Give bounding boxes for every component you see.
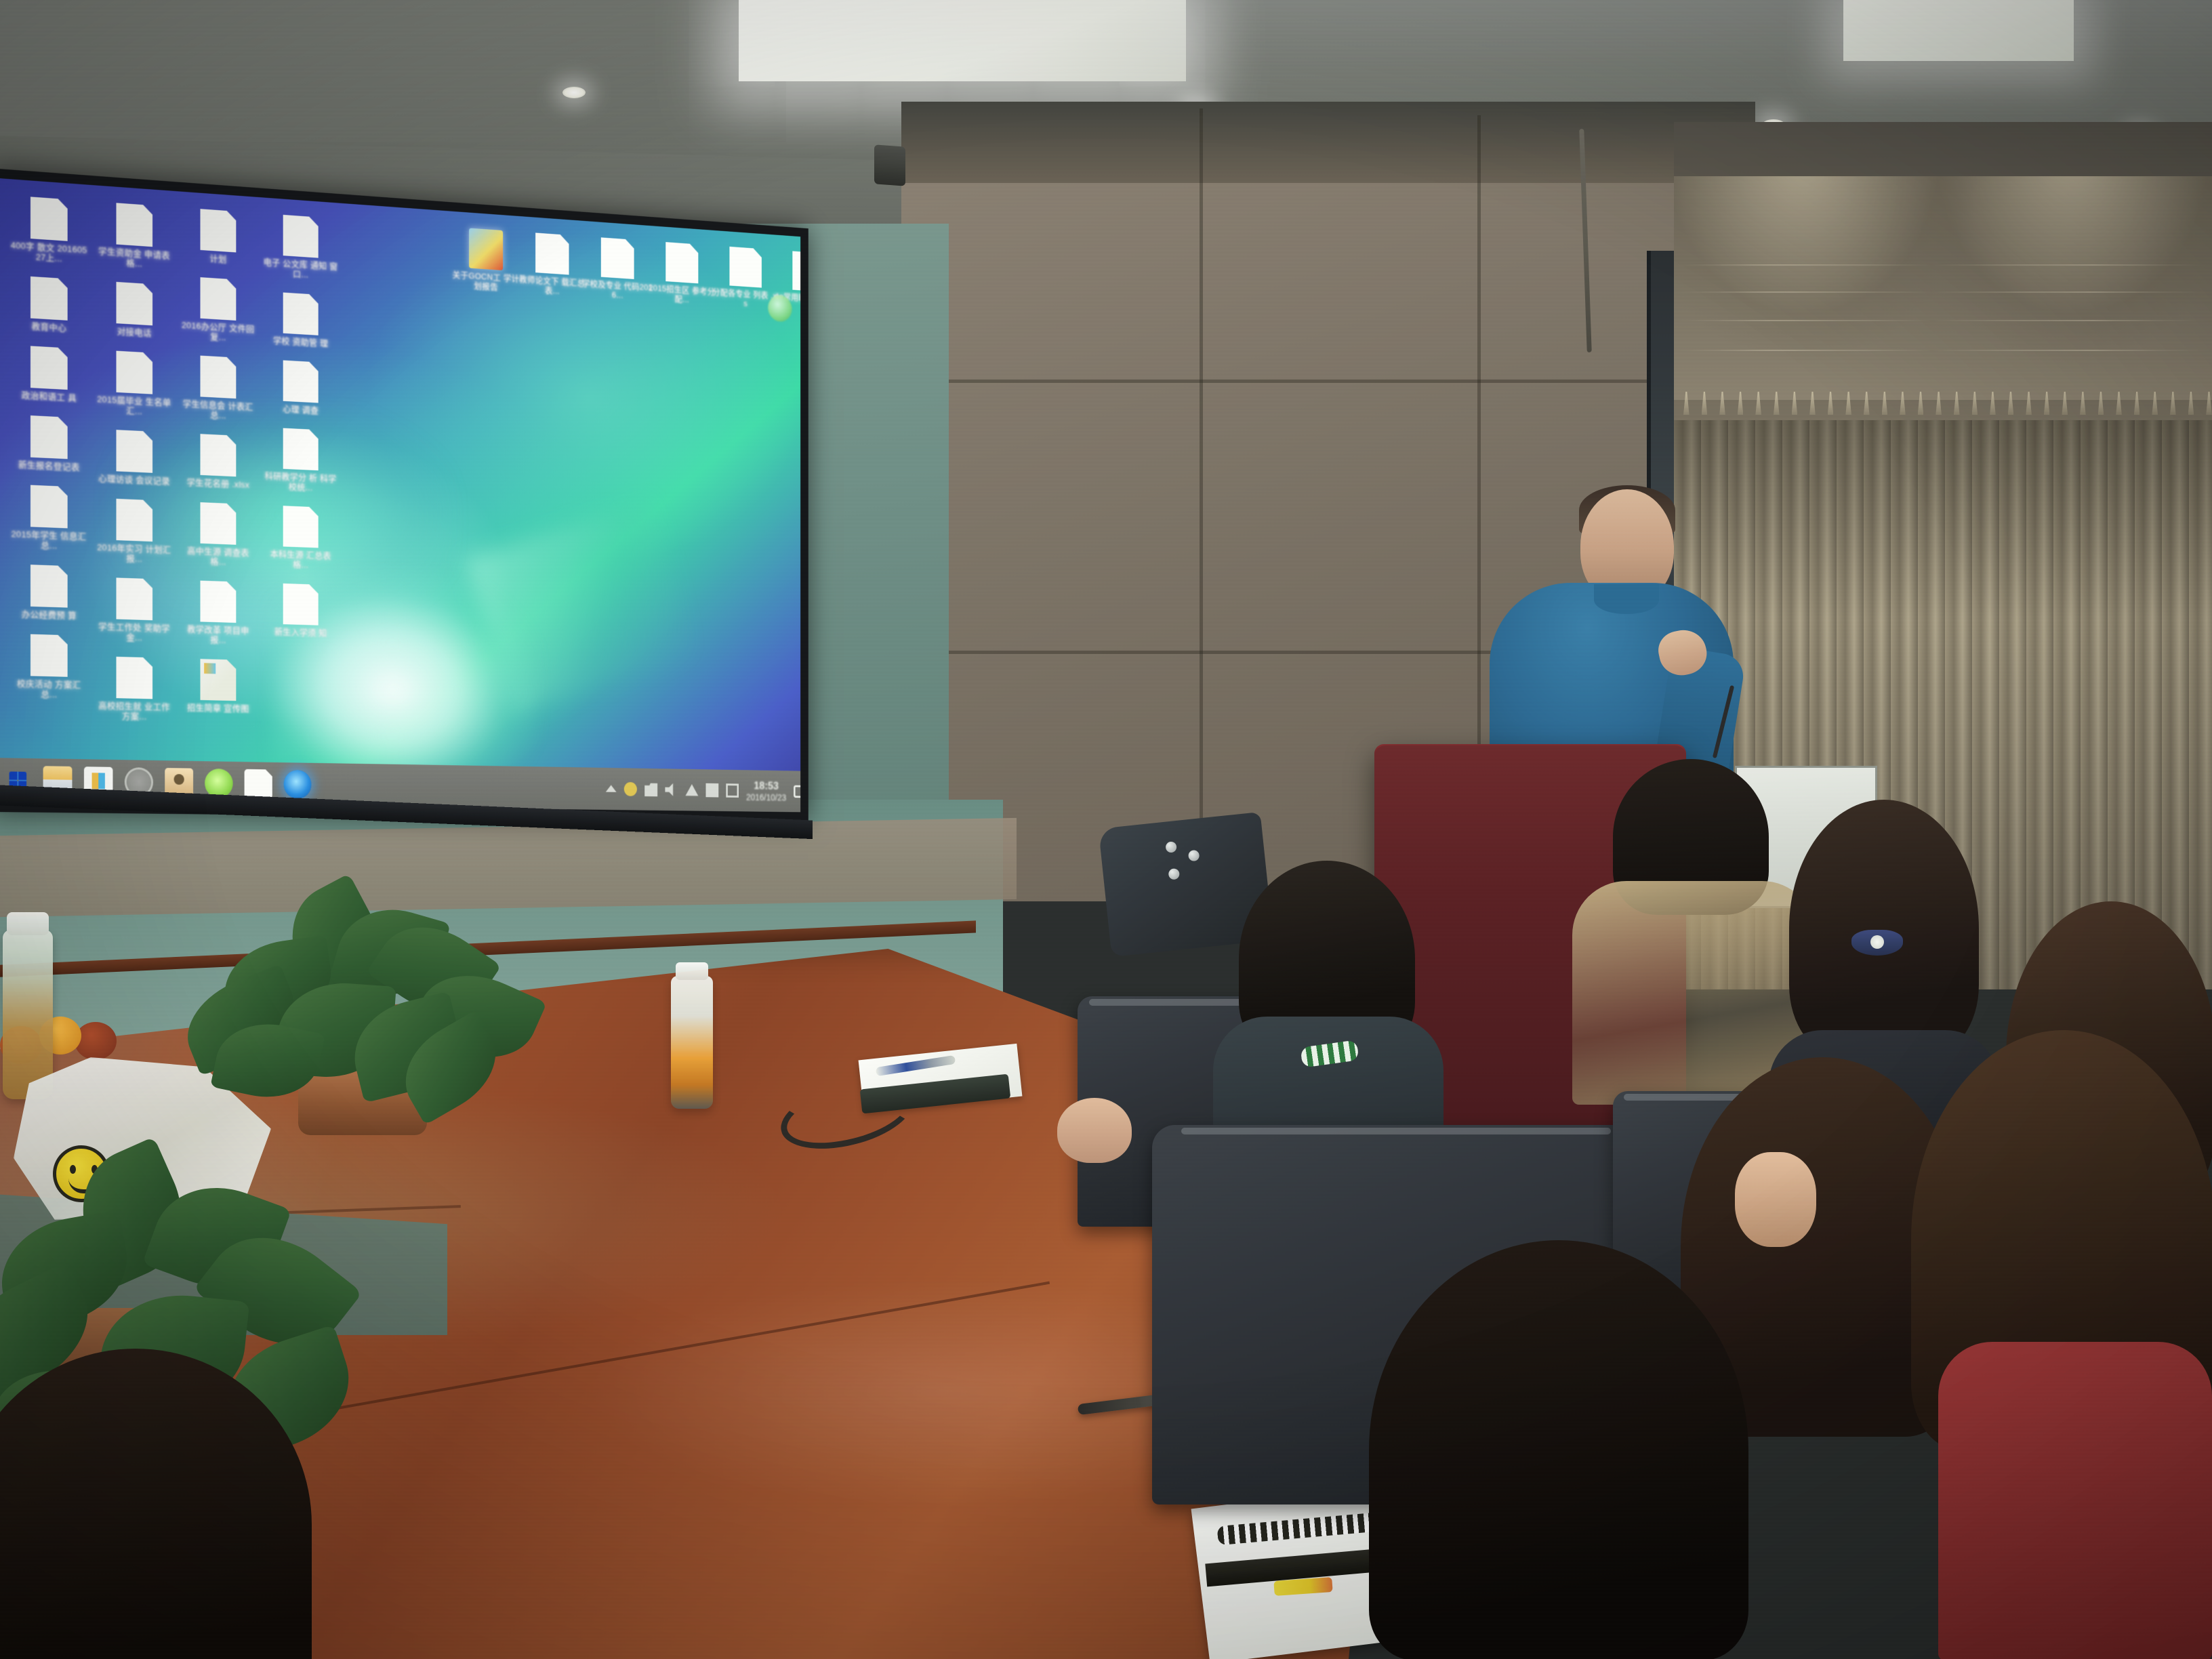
desktop-icon[interactable]: 政治和语工 具	[9, 345, 89, 404]
back-wall-upper-shadow	[901, 102, 1755, 183]
desktop-icon[interactable]: 计划	[180, 207, 256, 266]
ceiling-light-panel-secondary	[1843, 0, 2074, 61]
curtain-valance	[1674, 176, 2212, 400]
desktop-icon-label: 2015届毕业 生名单汇...	[95, 394, 173, 417]
desktop-icon-label: 教师论文下 载汇总表...	[516, 274, 588, 298]
clock-time: 18:53	[746, 779, 786, 792]
desktop-icon[interactable]: 新生入学须 知	[263, 583, 338, 638]
desktop-icon-label: 新生报名登记表	[9, 459, 89, 472]
folder-icon[interactable]	[644, 782, 657, 796]
desktop-icon-label: 2016办公厅 文件回复...	[180, 320, 256, 344]
internet-explorer-icon[interactable]	[284, 770, 312, 799]
system-tray: 18:53 2016/10/23	[606, 777, 800, 803]
desktop-icon[interactable]: 400字 散文 20160527上...	[9, 195, 89, 265]
desktop-icon-label: 对接电话	[95, 325, 173, 340]
desktop-icon-label: 高校招生就 业工作方案...	[95, 700, 173, 722]
desktop-icon-label: 本科生源 汇总表格...	[263, 548, 338, 571]
volume-icon[interactable]	[665, 783, 678, 797]
taskbar-clock[interactable]: 18:53 2016/10/23	[746, 779, 786, 802]
desktop-icon[interactable]: 2016办公厅 文件回复...	[180, 276, 256, 344]
desktop-icon[interactable]: 学生信息会 计表汇总...	[180, 354, 256, 422]
desktop-icon[interactable]: 学生工作处 奖助学金...	[95, 577, 173, 643]
desktop-icon-label: 学校及专业 代码2016...	[582, 279, 653, 302]
desktop-icon-label: 科研教学分 析 科学校统...	[263, 470, 338, 493]
desktop-icon-label: 学生工作处 奖助学金...	[95, 621, 173, 644]
desktop-icon-label: 心理访谈 会议记录	[95, 473, 173, 487]
desktop-icon-label: 学校 资助管 理	[263, 335, 338, 349]
desktop-icon[interactable]: 学校 资助管 理	[263, 291, 338, 349]
desktop-icon-label: 计划	[180, 251, 256, 266]
projector-screen-mount	[874, 144, 905, 186]
desktop-icon-label: 2015招生区 参考分配...	[647, 283, 717, 306]
show-hidden-icons-caret-icon[interactable]	[606, 785, 617, 793]
glass-thermos-bottle	[3, 930, 53, 1099]
presenter-collar	[1594, 584, 1659, 614]
desktop-icon-label: 教育中心	[9, 320, 89, 335]
potted-plant-large	[176, 881, 542, 1105]
hair-bow	[1851, 930, 1903, 956]
notification-dot-icon[interactable]	[624, 782, 637, 796]
desktop-icon[interactable]: 教学改革 项目申报...	[180, 580, 256, 646]
desktop-icon-label: 2016年实习 计划汇报...	[95, 542, 173, 565]
projected-desktop: 400字 散文 20160527上... 教育中心 政治和语工 具 新生报名登记…	[0, 178, 800, 812]
desktop-icon-label: 电子 公文库 通知 窗口...	[263, 257, 338, 281]
projector-screen: 400字 散文 20160527上... 教育中心 政治和语工 具 新生报名登记…	[0, 168, 808, 821]
desktop-icon[interactable]: 2015届毕业 生名单汇...	[95, 350, 173, 418]
desktop-icon[interactable]: 对接电话	[95, 281, 173, 340]
conference-room-photo: 400字 散文 20160527上... 教育中心 政治和语工 具 新生报名登记…	[0, 0, 2212, 1659]
fruit-orange	[75, 1022, 117, 1060]
desktop-icon-label: 招生简章 宣传图	[180, 702, 256, 714]
desktop-icon[interactable]: 电子 公文库 通知 窗口...	[263, 213, 338, 282]
desktop-icon[interactable]: 心理访谈 会议记录	[95, 429, 173, 487]
desktop-icon[interactable]: 学校及专业 代码2016...	[582, 236, 653, 302]
desktop-icon-label: 心理 调查	[263, 403, 338, 416]
desktop-icon[interactable]: 2015年学生 信息汇总...	[9, 484, 89, 552]
desktop-icon[interactable]: 教育中心	[9, 275, 89, 335]
desktop-icon-label: 2015年学生 信息汇总...	[9, 529, 89, 552]
input-method-icon[interactable]	[705, 783, 718, 798]
desktop-icon[interactable]: 心理 调查	[263, 359, 338, 417]
desktop-icon[interactable]: 学生资助金 申请表格...	[95, 201, 173, 270]
desktop-icon-label: 教学改革 项目申报...	[180, 623, 256, 646]
desktop-icon-label: 400字 散文 20160527上...	[9, 240, 89, 266]
desktop-icon[interactable]: 校庆活动 方案汇总...	[9, 634, 89, 700]
clock-date: 2016/10/23	[746, 792, 786, 802]
desktop-icon[interactable]: 招生简章 宣传图	[180, 658, 256, 714]
desktop-icon[interactable]: 高校招生就 业工作方案...	[95, 656, 173, 722]
desktop-icon[interactable]: 学生花名册 .xlsx	[180, 433, 256, 490]
desktop-icon[interactable]: 新生报名登记表	[9, 414, 89, 472]
action-center-icon[interactable]	[794, 785, 800, 798]
desktop-icon-label: 学生花名册 .xlsx	[180, 477, 256, 491]
ceiling-light-panel	[739, 0, 1186, 81]
document-icon[interactable]	[245, 769, 272, 798]
desktop-icon[interactable]: 办公经费预 算	[9, 564, 89, 621]
desktop-icon[interactable]: 2016年实习 计划汇报...	[95, 498, 173, 565]
desktop-icon-label: 学生信息会 计表汇总...	[180, 398, 256, 422]
desktop-icon[interactable]: 2015招生区 参考分配...	[647, 241, 717, 306]
desktop-icon-label: 校庆活动 方案汇总...	[9, 678, 89, 701]
desktop-icon-label: 学生资助金 申请表格...	[95, 245, 173, 270]
desktop-icon-label: 政治和语工 具	[9, 390, 89, 404]
desktop-icon[interactable]: 科研教学分 析 科学校统...	[263, 427, 338, 493]
desktop-icon[interactable]: 高中生源 调查表格...	[180, 501, 256, 568]
downlight-icon	[562, 87, 586, 98]
panel-seam	[901, 380, 1755, 383]
network-icon[interactable]	[685, 783, 698, 797]
desktop-icon-label: 新生入学须 知	[263, 626, 338, 638]
desktop-icon[interactable]: 本科生源 汇总表格...	[263, 505, 338, 571]
desktop-icon-label: 高中生源 调查表格...	[180, 546, 256, 568]
desktop-icon-label: 关于GOCN工 学计划报告	[449, 269, 522, 293]
desktop-icon[interactable]: 教师论文下 载汇总表...	[516, 231, 588, 298]
desktop-icon-label: 办公经费预 算	[9, 609, 89, 621]
panel-seam	[1200, 108, 1203, 895]
update-icon[interactable]	[726, 783, 739, 798]
plastic-water-bottle	[671, 976, 713, 1109]
ceiling-slab	[0, 0, 786, 142]
desktop-icon[interactable]: 关于GOCN工 学计划报告	[449, 226, 522, 293]
